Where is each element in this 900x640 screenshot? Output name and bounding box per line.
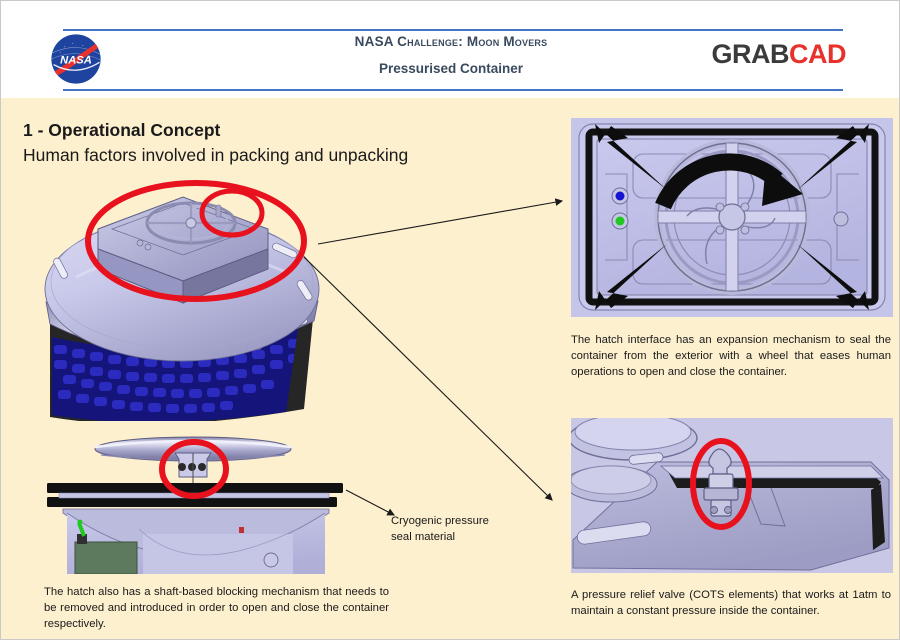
presentation-slide: NASA NASA Challenge: Moon Movers Pressur…	[0, 0, 900, 640]
cryogenic-seal-strip-upper	[47, 483, 343, 493]
grabcad-logo: GRABCAD	[712, 39, 847, 70]
page-title: 1 - Operational Concept	[23, 120, 220, 141]
header-title-block: NASA Challenge: Moon Movers Pressurised …	[251, 34, 651, 76]
header-title-sub: Pressurised Container	[251, 61, 651, 76]
pressure-relief-valve-detail	[571, 418, 893, 573]
header-rule-top	[63, 29, 843, 31]
pressurised-container-3d-view	[36, 169, 386, 421]
svg-text:NASA: NASA	[60, 54, 92, 66]
caption-hatch-interface: The hatch interface has an expansion mec…	[571, 332, 891, 380]
hatch-section-view	[43, 429, 388, 574]
page-subtitle: Human factors involved in packing and un…	[23, 145, 408, 166]
header-rule-bottom	[63, 89, 843, 91]
grabcad-logo-grab: GRAB	[712, 39, 790, 69]
header-title-main: NASA Challenge: Moon Movers	[251, 34, 651, 49]
caption-pressure-valve: A pressure relief valve (COTS elements) …	[571, 587, 891, 619]
nasa-logo-icon: NASA	[48, 31, 104, 87]
grabcad-logo-cad: CAD	[789, 39, 846, 69]
slide-header: NASA NASA Challenge: Moon Movers Pressur…	[1, 1, 900, 98]
label-cryogenic-seal: Cryogenic pressure seal material	[391, 513, 511, 545]
hatch-top-view	[571, 118, 893, 317]
caption-shaft-mechanism: The hatch also has a shaft-based blockin…	[44, 584, 389, 632]
